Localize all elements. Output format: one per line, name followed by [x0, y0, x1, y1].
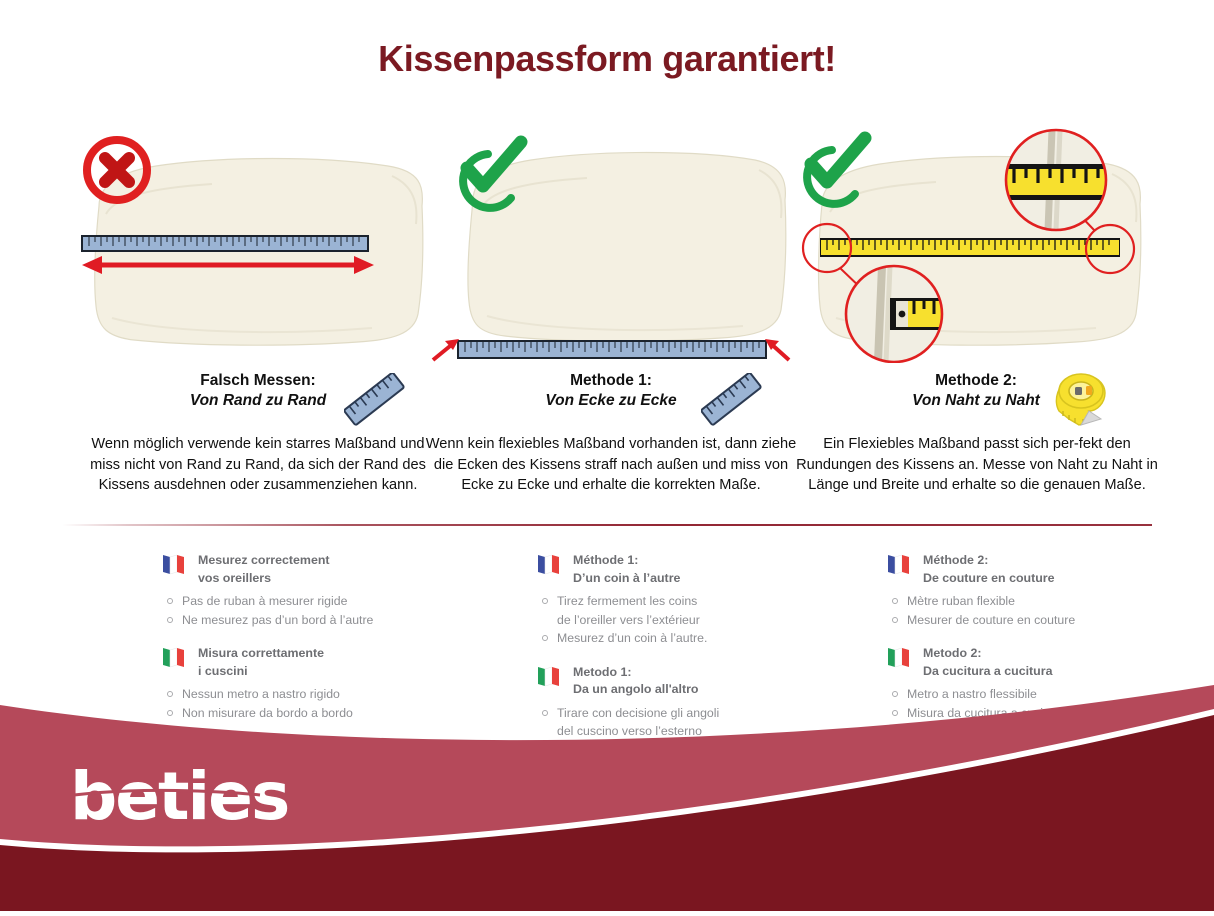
translation-block-fr: Mesurez correctement vos oreillers Pas d… — [160, 552, 460, 629]
blue-ruler-overlay — [81, 235, 369, 252]
france-flag-icon — [535, 553, 563, 575]
translation-title-line2: D’un coin à l’autre — [573, 570, 835, 588]
list-item: Ne mesurez pas d’un bord à l’autre — [160, 611, 460, 629]
translation-block-fr: Méthode 2: De couture en couture Mètre r… — [885, 552, 1185, 629]
illustration-wrong — [72, 128, 444, 363]
yellow-tape-measure-icon — [1045, 367, 1115, 436]
translation-list: Mètre ruban flexible Mesurer de couture … — [885, 592, 1185, 629]
list-item: Tirez fermement les coins — [535, 592, 835, 610]
body-method-1: Wenn kein flexiebles Maßband vorhanden i… — [425, 434, 797, 496]
translation-title-line1: Mesurez correctement — [198, 552, 460, 570]
blue-ruler-icon — [344, 373, 406, 434]
brand-logo-text: beties — [70, 758, 288, 835]
bullet-icon — [892, 598, 898, 604]
section-divider — [62, 524, 1152, 526]
translation-title-line2: De couture en couture — [923, 570, 1185, 588]
italy-flag-icon — [885, 646, 913, 668]
list-item-text: Pas de ruban à mesurer rigide — [182, 594, 347, 608]
translation-title-line2: vos oreillers — [198, 570, 460, 588]
list-item-text: Mesurez d’un coin à l’autre. — [557, 631, 707, 645]
translation-list: Pas de ruban à mesurer rigide Ne mesurez… — [160, 592, 460, 629]
italy-flag-icon — [160, 646, 188, 668]
body-wrong: Wenn möglich verwende kein starres Maßba… — [80, 434, 436, 496]
france-flag-icon — [885, 553, 913, 575]
list-item: Mesurer de couture en couture — [885, 611, 1185, 629]
list-item: Mètre ruban flexible — [885, 592, 1185, 610]
list-item-text: Tirez fermement les coins — [557, 594, 697, 608]
bullet-icon — [542, 598, 548, 604]
bullet-icon — [167, 617, 173, 623]
bullet-icon — [892, 617, 898, 623]
yellow-tape-overlay — [820, 238, 1120, 257]
translation-title-line1: Méthode 2: — [923, 552, 1185, 570]
translation-heading: Méthode 1: D’un coin à l’autre — [535, 552, 835, 587]
brand-logo: beties — [70, 757, 320, 862]
magnifier-callout-bottom — [846, 266, 942, 362]
infographic-page: Kissenpassform garantiert! — [0, 0, 1214, 911]
column-wrong-method: Falsch Messen: Von Rand zu Rand Wenn mög… — [72, 128, 444, 518]
blue-ruler-icon — [701, 373, 763, 434]
translation-heading: Misura correttamente i cuscini — [160, 645, 460, 680]
translation-title-line1: Metodo 2: — [923, 645, 1185, 663]
list-item: Mesurez d’un coin à l’autre. — [535, 629, 835, 647]
heading-method-2: Methode 2: Von Naht zu Naht — [790, 371, 1162, 411]
list-item-text: Mesurer de couture en couture — [907, 613, 1075, 627]
column-method-1: Methode 1: Von Ecke zu Ecke Wenn kein fl… — [425, 128, 797, 518]
bullet-icon — [542, 635, 548, 641]
translation-title-line1: Metodo 1: — [573, 664, 835, 682]
body-method-2: Ein Flexiebles Maßband passt sich per-fe… — [796, 434, 1158, 496]
translation-title-line2: Da cucitura a cucitura — [923, 663, 1185, 681]
heading-wrong: Falsch Messen: Von Rand zu Rand — [72, 371, 444, 411]
translation-title-line1: Misura correttamente — [198, 645, 460, 663]
translation-heading: Mesurez correctement vos oreillers — [160, 552, 460, 587]
translation-block-fr: Méthode 1: D’un coin à l’autre Tirez fer… — [535, 552, 835, 648]
heading-method-1: Methode 1: Von Ecke zu Ecke — [425, 371, 797, 411]
translation-heading: Metodo 2: Da cucitura a cucitura — [885, 645, 1185, 680]
page-title: Kissenpassform garantiert! — [0, 38, 1214, 80]
translation-list: Tirez fermement les coins de l’oreiller … — [535, 592, 835, 647]
list-item-text: de l’oreiller vers l’extérieur — [557, 613, 700, 627]
bullet-icon — [167, 598, 173, 604]
translation-title-line1: Méthode 1: — [573, 552, 835, 570]
list-item-text: Ne mesurez pas d’un bord à l’autre — [182, 613, 373, 627]
footer-banner: beties — [0, 681, 1214, 911]
blue-ruler-below — [457, 340, 767, 359]
list-item-continuation: de l’oreiller vers l’extérieur — [535, 611, 835, 629]
translation-heading: Méthode 2: De couture en couture — [885, 552, 1185, 587]
illustration-method-2 — [790, 128, 1162, 363]
method-columns: Falsch Messen: Von Rand zu Rand Wenn mög… — [0, 128, 1214, 518]
list-item-text: Mètre ruban flexible — [907, 594, 1015, 608]
column-method-2: Methode 2: Von Naht zu Naht — [790, 128, 1162, 518]
illustration-method-1 — [425, 128, 797, 363]
pillow-shape — [468, 153, 786, 342]
translation-title-line2: i cuscini — [198, 663, 460, 681]
france-flag-icon — [160, 553, 188, 575]
list-item: Pas de ruban à mesurer rigide — [160, 592, 460, 610]
magnifier-callout-top — [1006, 130, 1106, 230]
